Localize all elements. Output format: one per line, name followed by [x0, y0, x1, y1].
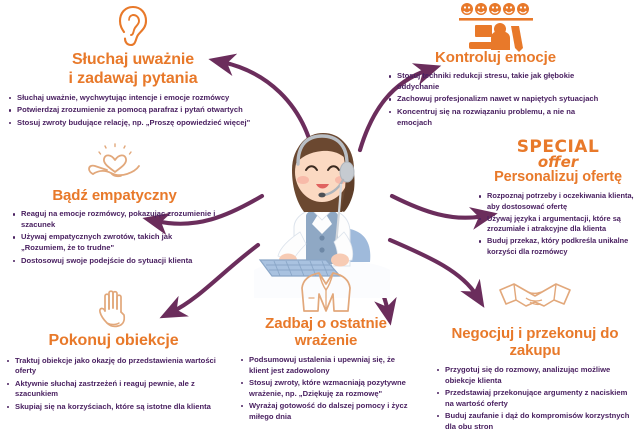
bullet-list: Słuchaj uważnie, wychwytując intencje i …: [8, 93, 258, 128]
bullet-list: Podsumowuj ustalenia i upewniaj się, że …: [240, 355, 412, 423]
section-title: Negocjuj i przekonuj do zakupu: [436, 325, 634, 360]
infographic-canvas: Słuchaj uważnie i zadawaj pytania Słucha…: [0, 0, 640, 426]
title-line: wrażenie: [295, 332, 358, 349]
bullet-item: Traktuj obiekcje jako okazję do przedsta…: [6, 356, 221, 378]
bullet-item: Dostosowuj swoje podejście do sytuacji k…: [12, 256, 217, 267]
bullet-item: Aktywnie słuchaj zastrzeżeń i reaguj pew…: [6, 379, 221, 401]
bullet-item: Podsumowuj ustalenia i upewniaj się, że …: [240, 355, 412, 377]
special-offer-line2: offer: [478, 156, 638, 170]
section-offer: SPECIAL offer Personalizuj ofertę Rozpoz…: [478, 140, 638, 259]
bullet-item: Koncentruj się na rozwiązaniu problemu, …: [388, 107, 603, 129]
section-title: Pokonuj obiekcje: [6, 332, 221, 351]
section-listen: Słuchaj uważnie i zadawaj pytania Słucha…: [8, 4, 258, 130]
bullet-item: Wyrażaj gotowość do dalszej pomocy i życ…: [240, 401, 412, 423]
bullet-item: Przedstawiaj przekonujące argumenty z na…: [436, 388, 634, 410]
title-line: Zadbaj o ostatnie: [265, 315, 387, 332]
bullet-list: Rozpoznaj potrzeby i oczekiwania klienta…: [478, 191, 638, 257]
section-title: Słuchaj uważnie i zadawaj pytania: [8, 51, 258, 88]
ear-icon: [8, 4, 258, 50]
bullet-item: Buduj zaufanie i dąż do kompromisów korz…: [436, 411, 634, 433]
section-empathy: Bądź empatyczny Reaguj na emocje rozmówc…: [12, 140, 217, 268]
section-title: Zadbaj o ostatnie wrażenie: [240, 315, 412, 350]
bullet-item: Zachowuj profesjonalizm nawet w napiętyc…: [388, 94, 603, 105]
open-palm-stop-icon: [6, 285, 221, 331]
bullet-item: Buduj przekaz, który podkreśla unikalne …: [478, 236, 638, 257]
section-negotiate: Negocjuj i przekonuj do zakupu Przygotuj…: [436, 278, 634, 434]
bullet-item: Skupiaj się na korzyściach, które są ist…: [6, 402, 221, 413]
title-line: i zadawaj pytania: [68, 70, 197, 87]
bullet-item: Stosuj zwroty budujące relację, np. „Pro…: [8, 118, 258, 129]
bullet-list: Traktuj obiekcje jako okazję do przedsta…: [6, 356, 221, 413]
section-objections: Pokonuj obiekcje Traktuj obiekcje jako o…: [6, 285, 221, 414]
bullet-item: Potwierdzaj zrozumienie za pomocą parafr…: [8, 105, 258, 116]
section-title: Bądź empatyczny: [12, 187, 217, 204]
bullet-item: Słuchaj uważnie, wychwytując intencje i …: [8, 93, 258, 104]
special-offer-lettering-icon: SPECIAL offer: [478, 140, 638, 169]
bullet-item: Rozpoznaj potrzeby i oczekiwania klienta…: [478, 191, 638, 212]
emotion-scale-person-icon: [388, 2, 603, 48]
title-line: Słuchaj uważnie: [72, 51, 194, 68]
section-last-impression: Zadbaj o ostatnie wrażenie Podsumowuj us…: [240, 268, 412, 424]
bullet-item: Używaj języka i argumentacji, które są z…: [478, 214, 638, 235]
bullet-item: Przygotuj się do rozmowy, analizując moż…: [436, 365, 634, 387]
handshake-icon: [436, 278, 634, 324]
arrow-to-offer: [392, 196, 484, 218]
section-emotions: Kontroluj emocje Stosuj techniki redukcj…: [388, 2, 603, 130]
bullet-item: Stosuj techniki redukcji stresu, takie j…: [388, 71, 603, 93]
bullet-list: Reaguj na emocje rozmówcy, pokazując zro…: [12, 209, 217, 266]
bullet-item: Reaguj na emocje rozmówcy, pokazując zro…: [12, 209, 217, 231]
bullet-item: Używaj empatycznych zwrotów, takich jak …: [12, 232, 217, 254]
bullet-list: Przygotuj się do rozmowy, analizując moż…: [436, 365, 634, 433]
title-line: Negocjuj i przekonuj do: [452, 325, 619, 342]
suit-jacket-icon: [240, 268, 412, 314]
title-line: zakupu: [509, 342, 560, 359]
bullet-list: Stosuj techniki redukcji stresu, takie j…: [388, 71, 603, 128]
bullet-item: Stosuj zwroty, które wzmacniają pozytywn…: [240, 378, 412, 400]
section-title: Personalizuj ofertę: [478, 169, 638, 186]
section-title: Kontroluj emocje: [388, 49, 603, 66]
hand-holding-heart-icon: [12, 140, 217, 186]
